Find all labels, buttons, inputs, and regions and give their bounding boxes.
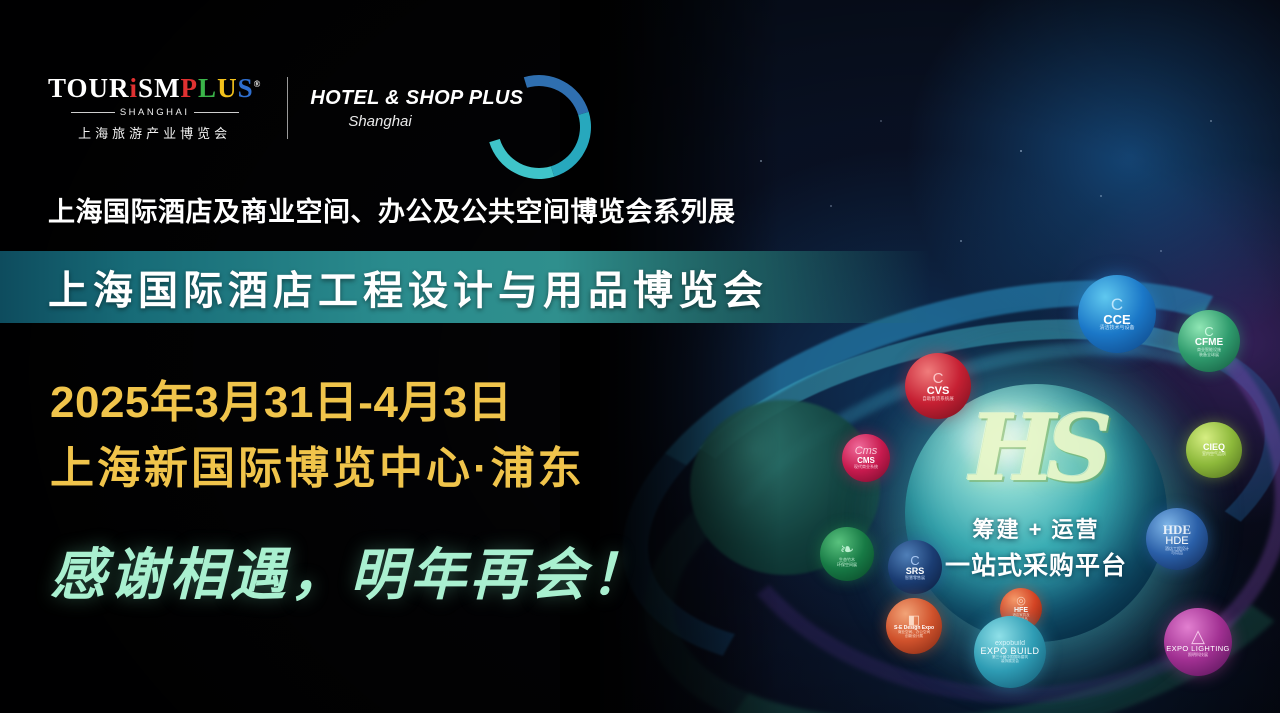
rule-right [194,112,238,113]
badge-cms[interactable]: Cms CMS 现代商业系统 [842,434,890,482]
event-poster: HS 筹建 + 运营 一站式采购平台 C CCE 清洁技术与设备 C CFME … [0,0,1280,713]
shanghai-label: SHANGHAI [115,107,195,118]
hotel-shop-plus-subtitle: Shanghai [348,113,411,130]
series-title: 上海国际酒店及商业空间、办公及公共空间博览会系列展 [48,190,736,229]
badge-hde[interactable]: HDE HDE 酒店工程设计 与用品 [1146,508,1208,570]
badge-cieq[interactable]: CIEQ 室内空气品质 [1186,422,1242,478]
event-venue: 上海新国际博览中心·浦东 [50,432,585,496]
word-part: P [181,75,199,102]
word-part: i [130,75,139,102]
registered-mark-icon: ® [254,80,262,89]
rule-left [71,112,115,113]
core-tagline-primary: 筹建 + 运营 [905,512,1167,544]
badge-srs[interactable]: C SRS 智慧零售展 [888,540,942,594]
tourism-plus-wordmark: TOURiSM PLUS® [48,75,261,102]
hotel-shop-plus-logo[interactable]: HOTEL & SHOP PLUS Shanghai [310,87,585,130]
badge-cvs[interactable]: C CVS 自助售货系统展 [905,353,971,419]
badge-cce[interactable]: C CCE 清洁技术与设备 [1078,275,1156,353]
logo-divider [287,77,288,139]
event-title: 上海国际酒店工程设计与用品博览会 [48,258,768,316]
logo-row: TOURiSM PLUS® SHANGHAI 上海旅游产业博览会 HOTEL &… [48,66,585,150]
badge-eco-bamboo[interactable]: ❧ 生态竹木 环保空间展 [820,527,874,581]
badge-cfme[interactable]: C CFME 商业智能设施 装备全球展 [1178,310,1240,372]
word-part: S [238,75,254,102]
word-part: TOUR [48,75,130,102]
tourism-plus-logo[interactable]: TOURiSM PLUS® SHANGHAI 上海旅游产业博览会 [48,75,261,142]
event-date: 2025年3月31日-4月3日 [50,366,512,430]
word-part: SM [138,75,181,102]
farewell-message: 感谢相遇，明年再会！ [50,530,650,611]
core-tagline-secondary: 一站式采购平台 [905,546,1167,582]
badge-expo-build[interactable]: expobuild EXPO BUILD 第三十届中国国际建筑 装饰展览会 [974,616,1046,688]
tourism-chinese-name: 上海旅游产业博览会 [78,123,231,142]
word-part: L [198,75,217,102]
badge-expo-lighting[interactable]: △ EXPO LIGHTING 照明科技展 [1164,608,1232,676]
badge-se-design-expo[interactable]: ◧ S-E Design Expo 商业空间、办公空间 创新设计展 [886,598,942,654]
shanghai-rule: SHANGHAI [71,107,239,118]
word-part: U [217,75,238,102]
